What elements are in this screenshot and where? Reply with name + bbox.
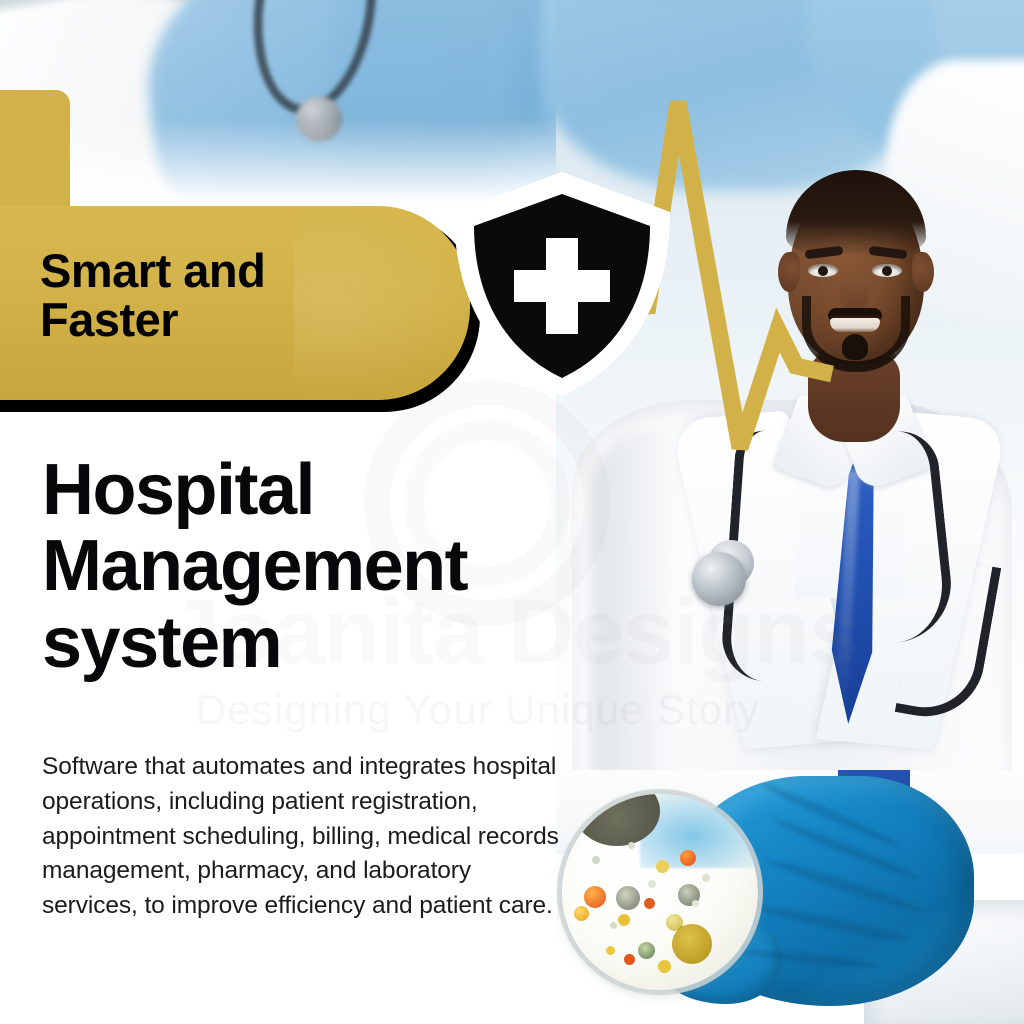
colony <box>656 860 669 873</box>
pupil-right <box>882 266 892 276</box>
stethoscope-chestpiece <box>692 552 746 606</box>
page-title: Hospital Management system <box>42 452 562 681</box>
colony <box>644 898 655 909</box>
petri-dish <box>562 794 758 990</box>
badge-line-2: Faster <box>40 295 265 344</box>
colony <box>702 874 710 882</box>
colony <box>618 914 630 926</box>
badge-line-1: Smart and <box>40 246 265 295</box>
headline-line-1: Hospital <box>42 452 562 528</box>
ear-right <box>912 252 934 292</box>
colony-yellow-large <box>672 924 712 964</box>
colony <box>592 856 600 864</box>
colony <box>624 954 635 965</box>
smart-and-faster-badge: Smart and Faster <box>0 206 494 412</box>
badge-text: Smart and Faster <box>40 246 265 345</box>
colony <box>610 922 617 929</box>
colony <box>638 942 655 959</box>
colony <box>692 900 699 907</box>
coat-shadow <box>592 430 682 810</box>
colony <box>606 946 615 955</box>
badge-sheen <box>294 206 474 400</box>
petri-dish-photo <box>556 770 1024 1024</box>
colony <box>584 886 606 908</box>
colony <box>680 850 696 866</box>
headline-line-3: system <box>42 605 562 681</box>
colony <box>648 880 656 888</box>
body-description: Software that automates and integrates h… <box>42 750 562 924</box>
colony <box>616 886 640 910</box>
colony <box>658 960 671 973</box>
colony <box>574 906 589 921</box>
gold-tab-accent <box>0 90 70 212</box>
shield-medical-cross-icon <box>448 168 676 400</box>
goatee <box>842 334 868 360</box>
poster-canvas: Joanita Designs Designing Your Unique St… <box>0 0 1024 1024</box>
colony <box>628 842 635 849</box>
headline-line-2: Management <box>42 528 562 604</box>
